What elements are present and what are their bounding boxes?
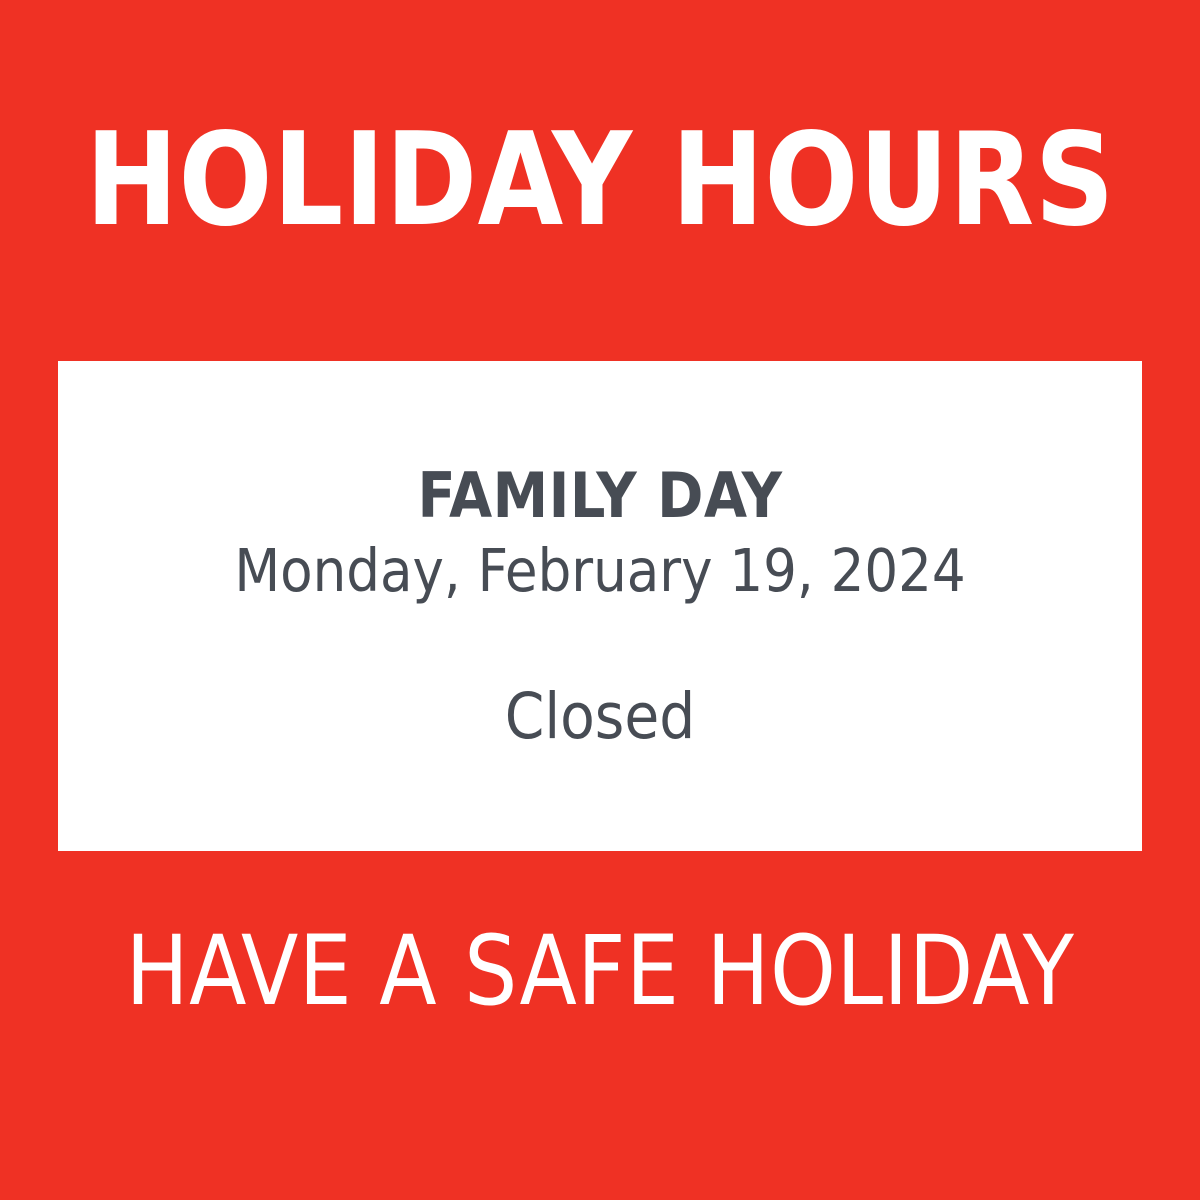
- holiday-details-content: FAMILY DAY Monday, February 19, 2024 Clo…: [58, 461, 1142, 752]
- event-name: FAMILY DAY: [417, 461, 782, 530]
- event-date: Monday, February 19, 2024: [234, 538, 965, 604]
- status-badge: Closed: [505, 682, 695, 751]
- holiday-hours-notice: HOLIDAY HOURS FAMILY DAY Monday, Februar…: [0, 0, 1200, 1200]
- footer-band: HAVE A SAFE HOLIDAY: [0, 851, 1200, 1200]
- holiday-details-card: FAMILY DAY Monday, February 19, 2024 Clo…: [58, 361, 1142, 851]
- footer-message: HAVE A SAFE HOLIDAY: [126, 851, 1075, 1019]
- page-title: HOLIDAY HOURS: [85, 117, 1114, 245]
- header-band: HOLIDAY HOURS: [0, 0, 1200, 361]
